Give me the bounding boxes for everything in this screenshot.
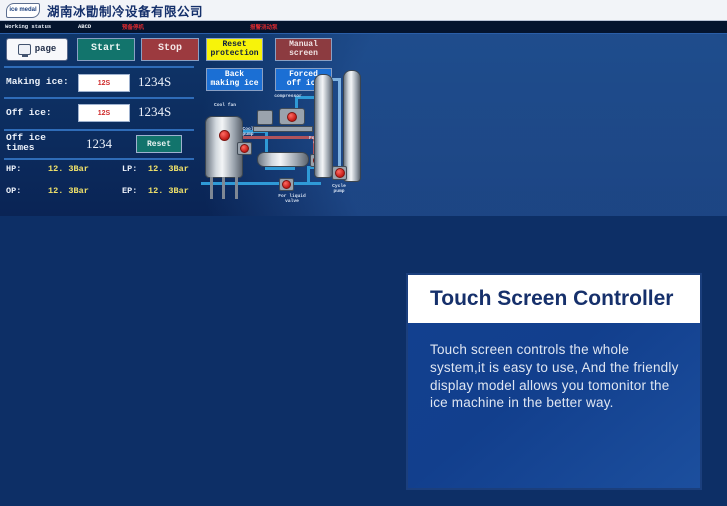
touch-panel-description: Touch screen controls the whole system,i… [430, 341, 682, 412]
dashed-pipe [338, 78, 341, 166]
hmi-main-area: page Start Stop Reset protection Manual … [0, 34, 727, 216]
ice-tank-column-1 [314, 74, 333, 178]
off-ice-times-label: Off ice times [6, 133, 46, 154]
lp-label: LP: [122, 164, 137, 174]
start-button[interactable]: Start [77, 38, 135, 61]
stop-button[interactable]: Stop [141, 38, 199, 61]
tank-leg [222, 177, 225, 199]
ice-medal-logo: ice medal [6, 3, 40, 18]
touch-panel-title-bar: Touch Screen Controller [408, 275, 700, 323]
manual-screen-button[interactable]: Manual screen [275, 38, 332, 61]
compressor-motor [257, 110, 273, 125]
page-button[interactable]: page [6, 38, 68, 61]
op-label: OP: [6, 186, 21, 196]
lp-value: 12. 3Bar [148, 164, 189, 174]
ep-value: 12. 3Bar [148, 186, 189, 196]
off-ice-row: Off ice: 1234S [0, 103, 200, 127]
reset-button[interactable]: Reset [136, 135, 182, 153]
for-liquid-valve-label: For liquid valve [269, 194, 315, 205]
making-ice-label: Making ice: [6, 77, 69, 87]
row-divider [4, 66, 194, 68]
compressor-label: compressor [263, 94, 313, 99]
making-ice-row: Making ice: 1234S [0, 72, 200, 96]
tank-leg [210, 177, 213, 199]
op-value: 12. 3Bar [48, 186, 89, 196]
liquid-valve-indicator [282, 180, 291, 189]
ep-label: EP: [122, 186, 137, 196]
off-ice-times-count: 1234 [86, 136, 112, 152]
hp-value: 12. 3Bar [48, 164, 89, 174]
off-ice-total: 1234S [138, 104, 171, 120]
pipe-segment [265, 167, 295, 170]
row-divider [4, 129, 194, 131]
touch-panel-body: Touch screen controls the whole system,i… [408, 323, 700, 488]
tank-leg [235, 177, 238, 199]
hp-label: HP: [6, 164, 21, 174]
cool-fan-indicator [219, 130, 230, 141]
page-button-label: page [35, 45, 57, 54]
off-ice-times-row: Off ice times 1234 Reset [0, 132, 200, 157]
receiver-tank [257, 152, 309, 167]
hmi-button-row: page Start Stop Reset protection Manual … [0, 36, 727, 64]
hmi-header: ice medal 湖南冰勖制冷设备有限公司 [0, 0, 727, 21]
pipe-segment [201, 182, 321, 185]
company-name: 湖南冰勖制冷设备有限公司 [47, 1, 203, 20]
cool-pump-indicator [240, 144, 249, 153]
making-ice-total: 1234S [138, 74, 171, 90]
cycle-pump-label: Cycle pump [321, 184, 357, 195]
compressor-base [253, 126, 313, 132]
working-status-code: ABCD [78, 23, 91, 30]
alarm-label-1: 预备停机 [122, 23, 144, 31]
working-status-label: Working status [5, 23, 51, 30]
reset-protection-button[interactable]: Reset protection [206, 38, 263, 61]
compressor-indicator [287, 112, 297, 122]
making-ice-input[interactable] [78, 74, 130, 92]
monitor-icon [18, 44, 31, 55]
alarm-label-2: 报警浇动泵 [250, 23, 278, 31]
row-divider [4, 158, 194, 160]
touch-screen-controller-panel: Touch Screen Controller Touch screen con… [406, 273, 702, 490]
row-divider [4, 97, 194, 99]
hmi-status-bar: Working status ABCD 预备停机 报警浇动泵 [0, 21, 727, 34]
section-title: Touch Screen Controller [430, 287, 673, 311]
cycle-pump-indicator [335, 168, 345, 178]
cool-fan-label: Cool fan [201, 103, 249, 108]
screenshot-canvas: Ice Cutter The ice cutting procedure is … [0, 0, 727, 506]
refrigeration-schematic: Cool fan Cool pump compressor [195, 70, 354, 216]
touch-screen-controller-screenshot: ice medal 湖南冰勖制冷设备有限公司 Working status AB… [0, 0, 354, 217]
off-ice-label: Off ice: [6, 108, 52, 118]
off-ice-input[interactable] [78, 104, 130, 122]
